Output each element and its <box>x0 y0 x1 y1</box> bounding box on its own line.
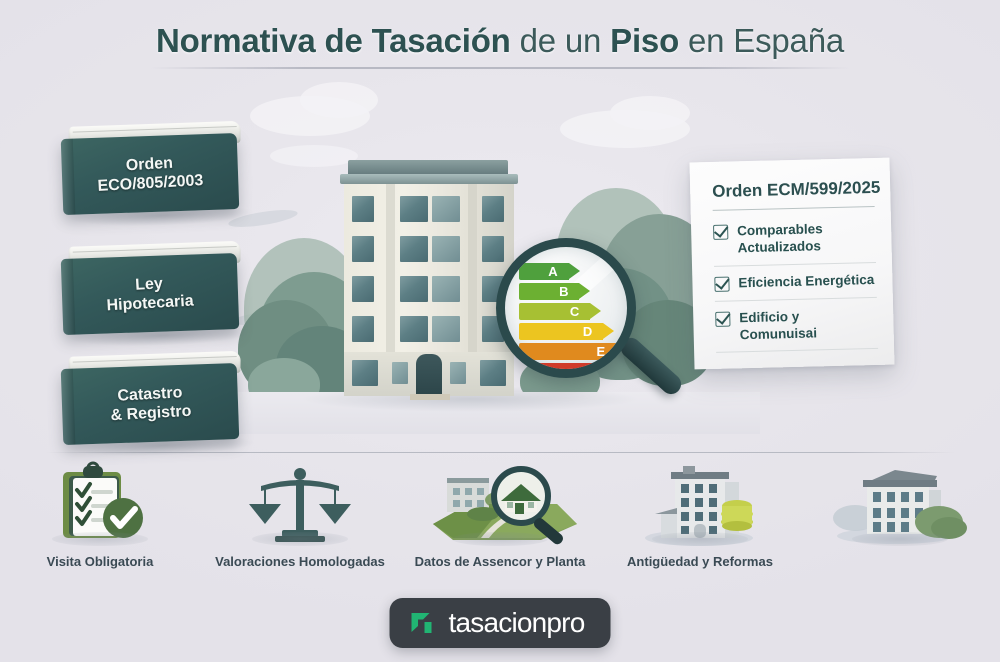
window <box>432 316 460 342</box>
feature-label: Datos de Assencor y Planta <box>415 554 586 569</box>
logo-wordmark: tasacionpro <box>449 609 585 637</box>
building-entrance-step <box>410 394 450 400</box>
window <box>400 196 428 222</box>
energy-bar-a: A <box>519 263 569 280</box>
energy-rating-chart: A B C D E F <box>519 263 627 378</box>
energy-bar-b: B <box>519 283 579 300</box>
book-label: Orden ECO/805/2003 <box>90 152 210 197</box>
tasacionpro-logo[interactable]: tasacionpro <box>390 598 611 648</box>
page-title-block: Normativa de Tasación de un Piso en Espa… <box>0 22 1000 69</box>
feature-label: Visita Obligatoria <box>47 554 154 569</box>
window <box>400 236 428 262</box>
window-ground <box>392 362 408 384</box>
doc-item-comparables[interactable]: Comparables Actualizados <box>713 211 876 267</box>
infographic-canvas: Normativa de Tasación de un Piso en Espa… <box>0 0 1000 662</box>
icon-shadow <box>452 532 548 546</box>
book-catastro-registro[interactable]: Catastro & Registro <box>61 363 240 445</box>
window <box>400 316 428 342</box>
title-segment-espana: en España <box>679 22 844 59</box>
book-label: Ley Hipotecaria <box>99 272 200 316</box>
book-ley-hipotecaria[interactable]: Ley Hipotecaria <box>61 253 240 335</box>
window-ground <box>450 362 466 384</box>
energy-bar-e: E <box>519 343 616 360</box>
window <box>400 276 428 302</box>
document-title: Orden ECM/599/2025 <box>712 178 875 211</box>
window <box>352 316 374 342</box>
doc-item-label: Edificio y Comunuisai <box>739 307 878 344</box>
feature-datos[interactable]: Datos de Assencor y Planta <box>400 460 600 590</box>
window <box>432 196 460 222</box>
building-entrance-door <box>416 354 442 396</box>
feature-label: Antigüedad y Reformas <box>627 554 773 569</box>
window <box>352 196 374 222</box>
clipboard-check-icon <box>25 460 175 548</box>
logo-mark-svg <box>410 609 438 637</box>
energy-bar-d: D <box>519 323 603 340</box>
window-ground <box>352 360 378 386</box>
icon-shadow <box>52 532 148 546</box>
magnifier-handle <box>617 334 685 398</box>
title-underline <box>150 67 850 69</box>
title-segment-deun: de un <box>511 22 611 59</box>
feature-label: Valoraciones Homologadas <box>215 554 385 569</box>
energy-magnifier[interactable]: A B C D E F <box>496 238 716 428</box>
building-roof-ledge <box>340 174 518 184</box>
window <box>352 276 374 302</box>
book-label-line2: & Registro <box>110 403 192 424</box>
book-cover: Catastro & Registro <box>61 363 240 445</box>
tasacionpro-arrow-mark-icon <box>410 609 438 637</box>
window <box>482 196 504 222</box>
doc-item-label: Comparables Actualizados <box>737 220 876 257</box>
regulation-document-panel[interactable]: Orden ECM/599/2025 Comparables Actualiza… <box>689 158 894 370</box>
title-segment-piso: Piso <box>610 22 679 59</box>
book-label: Catastro & Registro <box>103 382 198 426</box>
feature-antiguedad[interactable]: Antigüedad y Reformas <box>600 460 800 590</box>
checkbox-checked-icon[interactable] <box>714 276 729 291</box>
feature-extra[interactable] <box>800 460 1000 590</box>
book-label-line1: Catastro <box>117 384 183 405</box>
feature-valoraciones[interactable]: Valoraciones Homologadas <box>200 460 400 590</box>
energy-bar-f: F <box>519 363 627 378</box>
book-orden-eco[interactable]: Orden ECO/805/2003 <box>61 133 240 215</box>
book-cover: Orden ECO/805/2003 <box>61 133 240 215</box>
balance-scales-icon <box>225 460 375 548</box>
apartment-building-icon <box>625 460 775 548</box>
doc-item-label: Eficiencia Energética <box>738 272 874 292</box>
doc-item-edificio[interactable]: Edificio y Comunuisai <box>715 298 878 354</box>
feature-row: Visita Obligatoria Valoraciones Homolo <box>0 460 1000 590</box>
cloud-decoration <box>610 96 690 130</box>
window <box>432 236 460 262</box>
page-title: Normativa de Tasación de un Piso en Espa… <box>0 22 1000 60</box>
icon-shadow <box>652 532 748 546</box>
window <box>352 236 374 262</box>
cloud-decoration <box>300 82 378 118</box>
book-label-line1: Ley <box>135 275 163 294</box>
checkbox-checked-icon[interactable] <box>715 311 730 326</box>
doc-item-eficiencia[interactable]: Eficiencia Energética <box>714 263 877 302</box>
book-label-line1: Orden <box>125 155 173 175</box>
magnifier-lens: A B C D E F <box>496 238 636 378</box>
icon-shadow <box>852 532 948 546</box>
book-cover: Ley Hipotecaria <box>61 253 240 335</box>
feature-visita[interactable]: Visita Obligatoria <box>0 460 200 590</box>
energy-bar-c: C <box>519 303 590 320</box>
icon-shadow <box>252 532 348 546</box>
window <box>432 276 460 302</box>
book-label-line2: ECO/805/2003 <box>97 172 204 195</box>
book-label-line2: Hipotecaria <box>107 293 195 315</box>
land-plot-magnifier-icon <box>425 460 575 548</box>
residential-building-icon <box>825 460 975 548</box>
title-segment-normativa: Normativa de Tasación <box>156 22 511 59</box>
